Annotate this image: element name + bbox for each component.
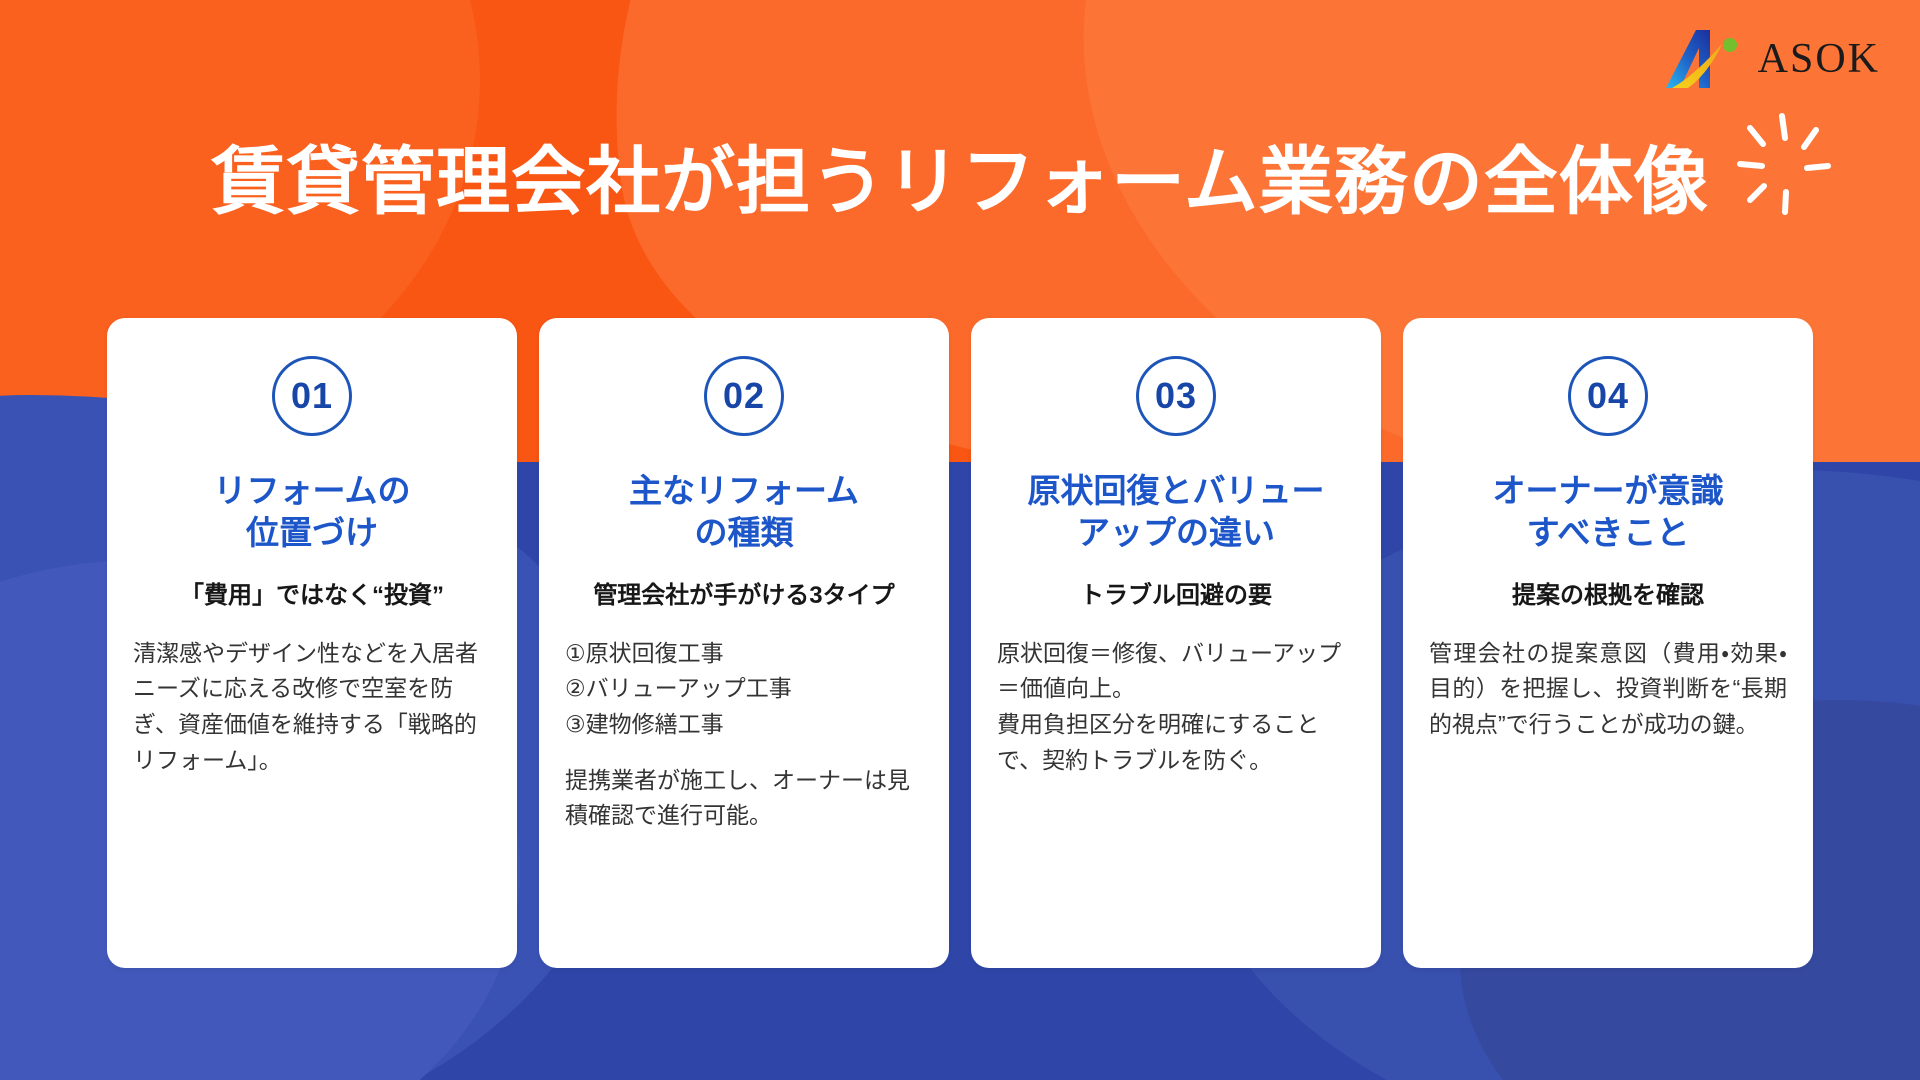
card-03[interactable]: 03 原状回復とバリュー アップの違い トラブル回避の要 原状回復＝修復、バリュ… [971, 318, 1381, 968]
card-heading: 原状回復とバリュー アップの違い [1028, 470, 1325, 554]
card-heading: オーナーが意識 すべきこと [1493, 470, 1724, 554]
card-subheading: 提案の根拠を確認 [1512, 580, 1704, 611]
card-heading: リフォームの 位置づけ [213, 470, 410, 554]
card-body-text: 管理会社の提案意図（費用・効果・目的）を把握し、投資判断を“長期的視点”で行うこ… [1429, 636, 1787, 743]
asok-logo: ASOK [1666, 26, 1880, 92]
card-body-text: 原状回復＝修復、バリューアップ＝価値向上。 費用負担区分を明確にすることで、契約… [997, 636, 1355, 779]
card-body-text: 清潔感やデザイン性などを入居者ニーズに応える改修で空室を防ぎ、資産価値を維持する… [133, 636, 491, 779]
card-02[interactable]: 02 主なリフォーム の種類 管理会社が手がける3タイプ ①原状回復工事 ②バリ… [539, 318, 949, 968]
asok-a-mark-icon [1666, 28, 1744, 90]
card-number-badge: 03 [1136, 356, 1216, 436]
card-row: 01 リフォームの 位置づけ 「費用」ではなく“投資” 清潔感やデザイン性などを… [0, 318, 1920, 968]
card-type-list: ①原状回復工事 ②バリューアップ工事 ③建物修繕工事 [565, 636, 923, 743]
list-item: ①原状回復工事 [565, 636, 923, 672]
card-01[interactable]: 01 リフォームの 位置づけ 「費用」ではなく“投資” 清潔感やデザイン性などを… [107, 318, 517, 968]
card-subheading: 「費用」ではなく“投資” [180, 580, 444, 611]
card-body-text: 提携業者が施工し、オーナーは見積確認で進行可能。 [565, 763, 923, 834]
list-item: ②バリューアップ工事 [565, 671, 923, 707]
card-04[interactable]: 04 オーナーが意識 すべきこと 提案の根拠を確認 管理会社の提案意図（費用・効… [1403, 318, 1813, 968]
card-number-badge: 01 [272, 356, 352, 436]
slide-canvas: ASOK 賃貸管理会社が担うリフォーム業務の全体像 01 リフォームの 位置づけ… [0, 0, 1920, 1080]
card-heading: 主なリフォーム の種類 [629, 470, 859, 554]
card-number-badge: 04 [1568, 356, 1648, 436]
page-title: 賃貸管理会社が担うリフォーム業務の全体像 [0, 142, 1920, 222]
card-subheading: 管理会社が手がける3タイプ [593, 580, 894, 611]
list-item: ③建物修繕工事 [565, 707, 923, 743]
card-subheading: トラブル回避の要 [1080, 580, 1272, 611]
asok-wordmark: ASOK [1758, 38, 1880, 80]
card-number-badge: 02 [704, 356, 784, 436]
